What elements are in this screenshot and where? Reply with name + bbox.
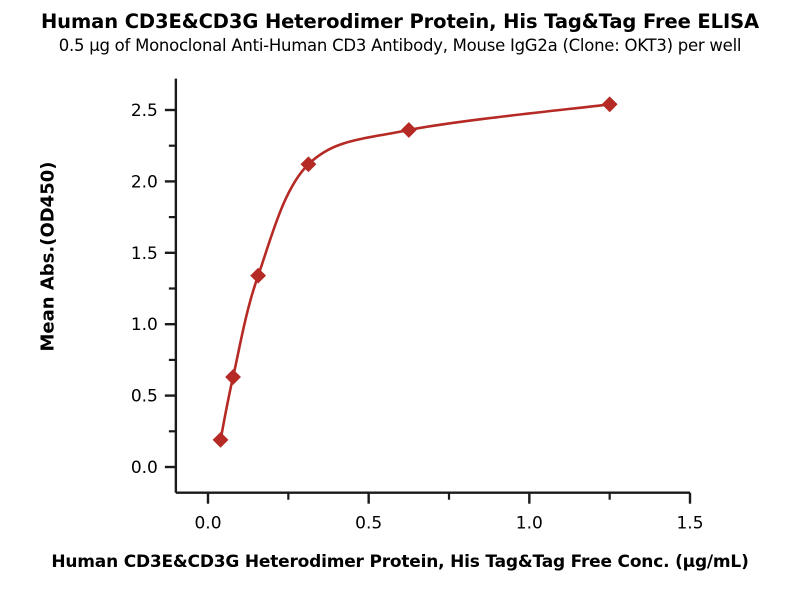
x-tick-label: 0.0 — [194, 514, 221, 534]
plot-area: 0.00.51.01.52.02.50.00.51.01.5 — [0, 0, 800, 600]
data-point-marker — [402, 123, 416, 137]
x-tick-label: 1.5 — [676, 514, 703, 534]
data-point-marker — [251, 268, 265, 282]
y-tick-label: 0.0 — [131, 458, 158, 478]
y-tick-label: 0.5 — [131, 387, 158, 407]
data-point-marker — [213, 433, 227, 447]
axis-layer — [165, 79, 690, 504]
y-axis-label: Mean Abs.(OD450) — [38, 147, 59, 367]
data-point-marker — [602, 97, 616, 111]
data-point-marker — [226, 370, 240, 384]
fit-curve — [221, 104, 610, 440]
y-tick-label: 1.5 — [131, 244, 158, 264]
chart-figure: Human CD3E&CD3G Heterodimer Protein, His… — [0, 0, 800, 600]
fit-curve-layer — [221, 104, 610, 440]
data-markers-layer — [213, 97, 617, 447]
y-tick-label: 2.5 — [131, 101, 158, 121]
y-tick-label: 2.0 — [131, 172, 158, 192]
tick-labels-layer: 0.00.51.01.52.02.50.00.51.01.5 — [131, 101, 704, 534]
x-tick-label: 1.0 — [516, 514, 543, 534]
x-tick-label: 0.5 — [355, 514, 382, 534]
y-tick-label: 1.0 — [131, 315, 158, 335]
x-axis-label: Human CD3E&CD3G Heterodimer Protein, His… — [0, 552, 800, 572]
